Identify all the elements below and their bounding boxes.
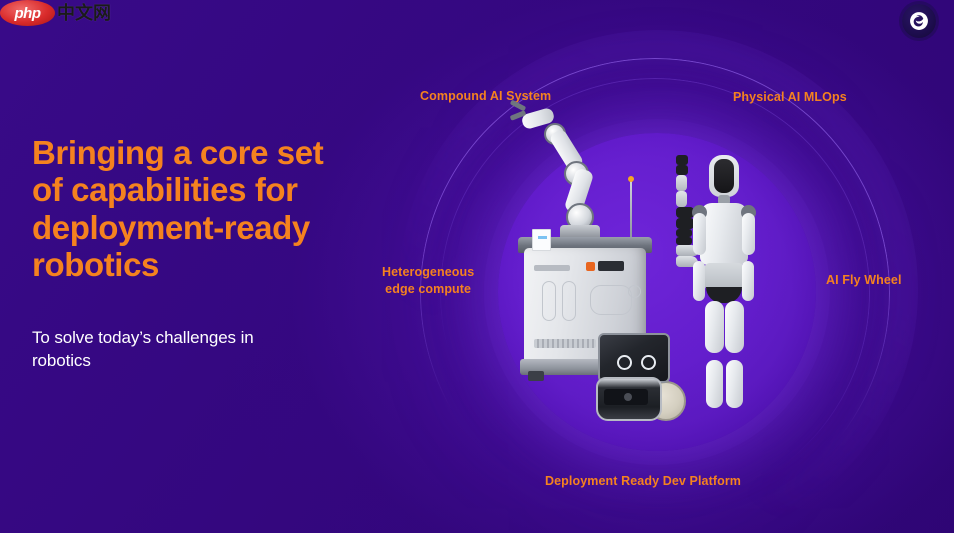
- orbit-label-ai-fly-wheel: AI Fly Wheel: [826, 272, 902, 289]
- amr-power-indicator: [586, 262, 595, 271]
- humanoid-visor: [714, 159, 734, 193]
- orbit-label-deployment-ready-dev-platform: Deployment Ready Dev Platform: [545, 473, 741, 490]
- humanoid-elbow-right: [676, 165, 688, 175]
- amr-label-tag: [532, 229, 551, 251]
- humanoid-ankle-right: [676, 237, 692, 245]
- humanoid-hand-left: [676, 175, 687, 191]
- humanoid-upper-arm-right: [742, 213, 755, 255]
- amr-port-circle: [628, 285, 641, 298]
- humanoid-robot: [676, 155, 772, 421]
- watermark: php 中文网: [0, 0, 111, 26]
- humanoid-forearm-right: [742, 261, 754, 301]
- amr-panel-left: [542, 281, 556, 321]
- orbit-label-heterogeneous-edge-compute: Heterogeneous edge compute: [382, 264, 474, 298]
- antenna-icon: [630, 181, 632, 239]
- brand-logo-icon: [902, 4, 936, 38]
- humanoid-ankle-left: [676, 229, 692, 237]
- home-robot-display: [598, 333, 670, 383]
- humanoid-knee-right: [676, 218, 694, 229]
- php-logo-icon: php: [0, 0, 55, 26]
- humanoid-thigh-left: [705, 301, 724, 353]
- home-robot-eye-left: [617, 355, 632, 370]
- slide-canvas: Bringing a core set of capabilities for …: [0, 0, 954, 533]
- orbit-label-physical-ai-mlops: Physical AI MLOps: [733, 89, 847, 106]
- amr-sensor-bar: [598, 261, 624, 271]
- home-robot-camera-lens: [624, 393, 632, 401]
- humanoid-forearm-left: [693, 261, 705, 301]
- home-robot: [594, 333, 686, 425]
- humanoid-shin-left: [706, 360, 723, 408]
- humanoid-hand-right: [676, 191, 687, 207]
- amr-panel-right: [590, 285, 632, 315]
- humanoid-elbow-left: [676, 155, 688, 165]
- humanoid-shin-right: [726, 360, 743, 408]
- humanoid-upper-arm-left: [693, 213, 706, 255]
- page-subtitle: To solve today’s challenges in robotics: [32, 327, 297, 373]
- page-title: Bringing a core set of capabilities for …: [32, 134, 332, 283]
- home-robot-eye-right: [641, 355, 656, 370]
- orbit-label-compound-ai-system: Compound AI System: [420, 88, 551, 105]
- amr-handle: [534, 265, 570, 271]
- watermark-text: 中文网: [57, 4, 111, 22]
- robot-cluster-illustration: [498, 133, 816, 451]
- amr-wheel-left: [528, 371, 544, 381]
- amr-panel-mid: [562, 281, 576, 321]
- amr-vent-grille: [534, 339, 596, 348]
- humanoid-thigh-right: [725, 301, 744, 353]
